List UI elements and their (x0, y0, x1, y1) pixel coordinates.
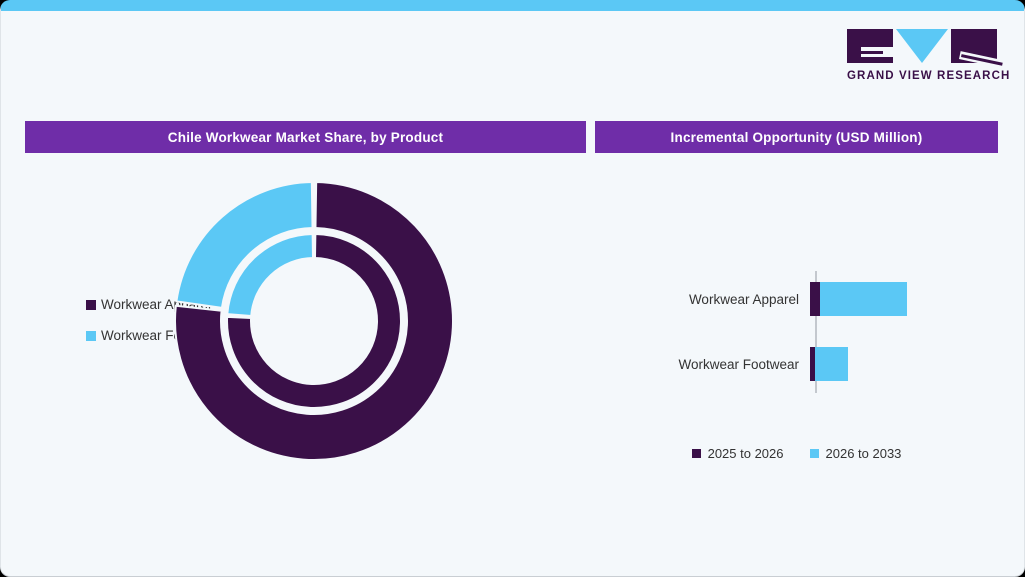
logo-square-g-icon (847, 29, 893, 63)
legend-swatch-icon (86, 300, 96, 310)
left-panel-title: Chile Workwear Market Share, by Product (25, 121, 586, 153)
right-panel-title: Incremental Opportunity (USD Million) (595, 121, 998, 153)
bar-row[interactable]: Workwear Apparel (595, 282, 907, 316)
bar-segment-2025-2026[interactable] (810, 282, 820, 316)
logo-triangle-v-icon (896, 29, 948, 63)
chart-card: GRAND VIEW RESEARCH Chile Workwear Marke… (0, 0, 1025, 577)
brand-logo: GRAND VIEW RESEARCH (847, 29, 997, 82)
bar-track (810, 282, 907, 316)
legend-label: 2026 to 2033 (826, 446, 902, 461)
logo-marks (847, 29, 997, 63)
legend-swatch-icon (692, 449, 701, 458)
bar-segment-2026-2033[interactable] (820, 282, 907, 316)
logo-square-r-icon (951, 29, 997, 63)
incremental-opportunity-panel: Workwear Apparel Workwear Footwear 2025 … (595, 161, 998, 511)
legend-item-2026-2033[interactable]: 2026 to 2033 (810, 446, 902, 461)
bar-track (810, 347, 848, 381)
legend-label: 2025 to 2026 (708, 446, 784, 461)
bar-chart-legend: 2025 to 2026 2026 to 2033 (595, 446, 998, 461)
bar-segment-2026-2033[interactable] (815, 347, 848, 381)
donut-outer-ring (175, 182, 453, 460)
legend-item-2025-2026[interactable]: 2025 to 2026 (692, 446, 784, 461)
nested-donut-chart (174, 181, 454, 461)
legend-swatch-icon (86, 331, 96, 341)
bar-category-label: Workwear Footwear (595, 357, 810, 372)
bar-category-label: Workwear Apparel (595, 292, 810, 307)
bar-row[interactable]: Workwear Footwear (595, 347, 848, 381)
brand-name: GRAND VIEW RESEARCH (847, 70, 997, 82)
legend-swatch-icon (810, 449, 819, 458)
market-share-donut-panel: Workwear Apparel Workwear Footwear (25, 161, 586, 511)
donut-inner-ring (227, 234, 401, 408)
